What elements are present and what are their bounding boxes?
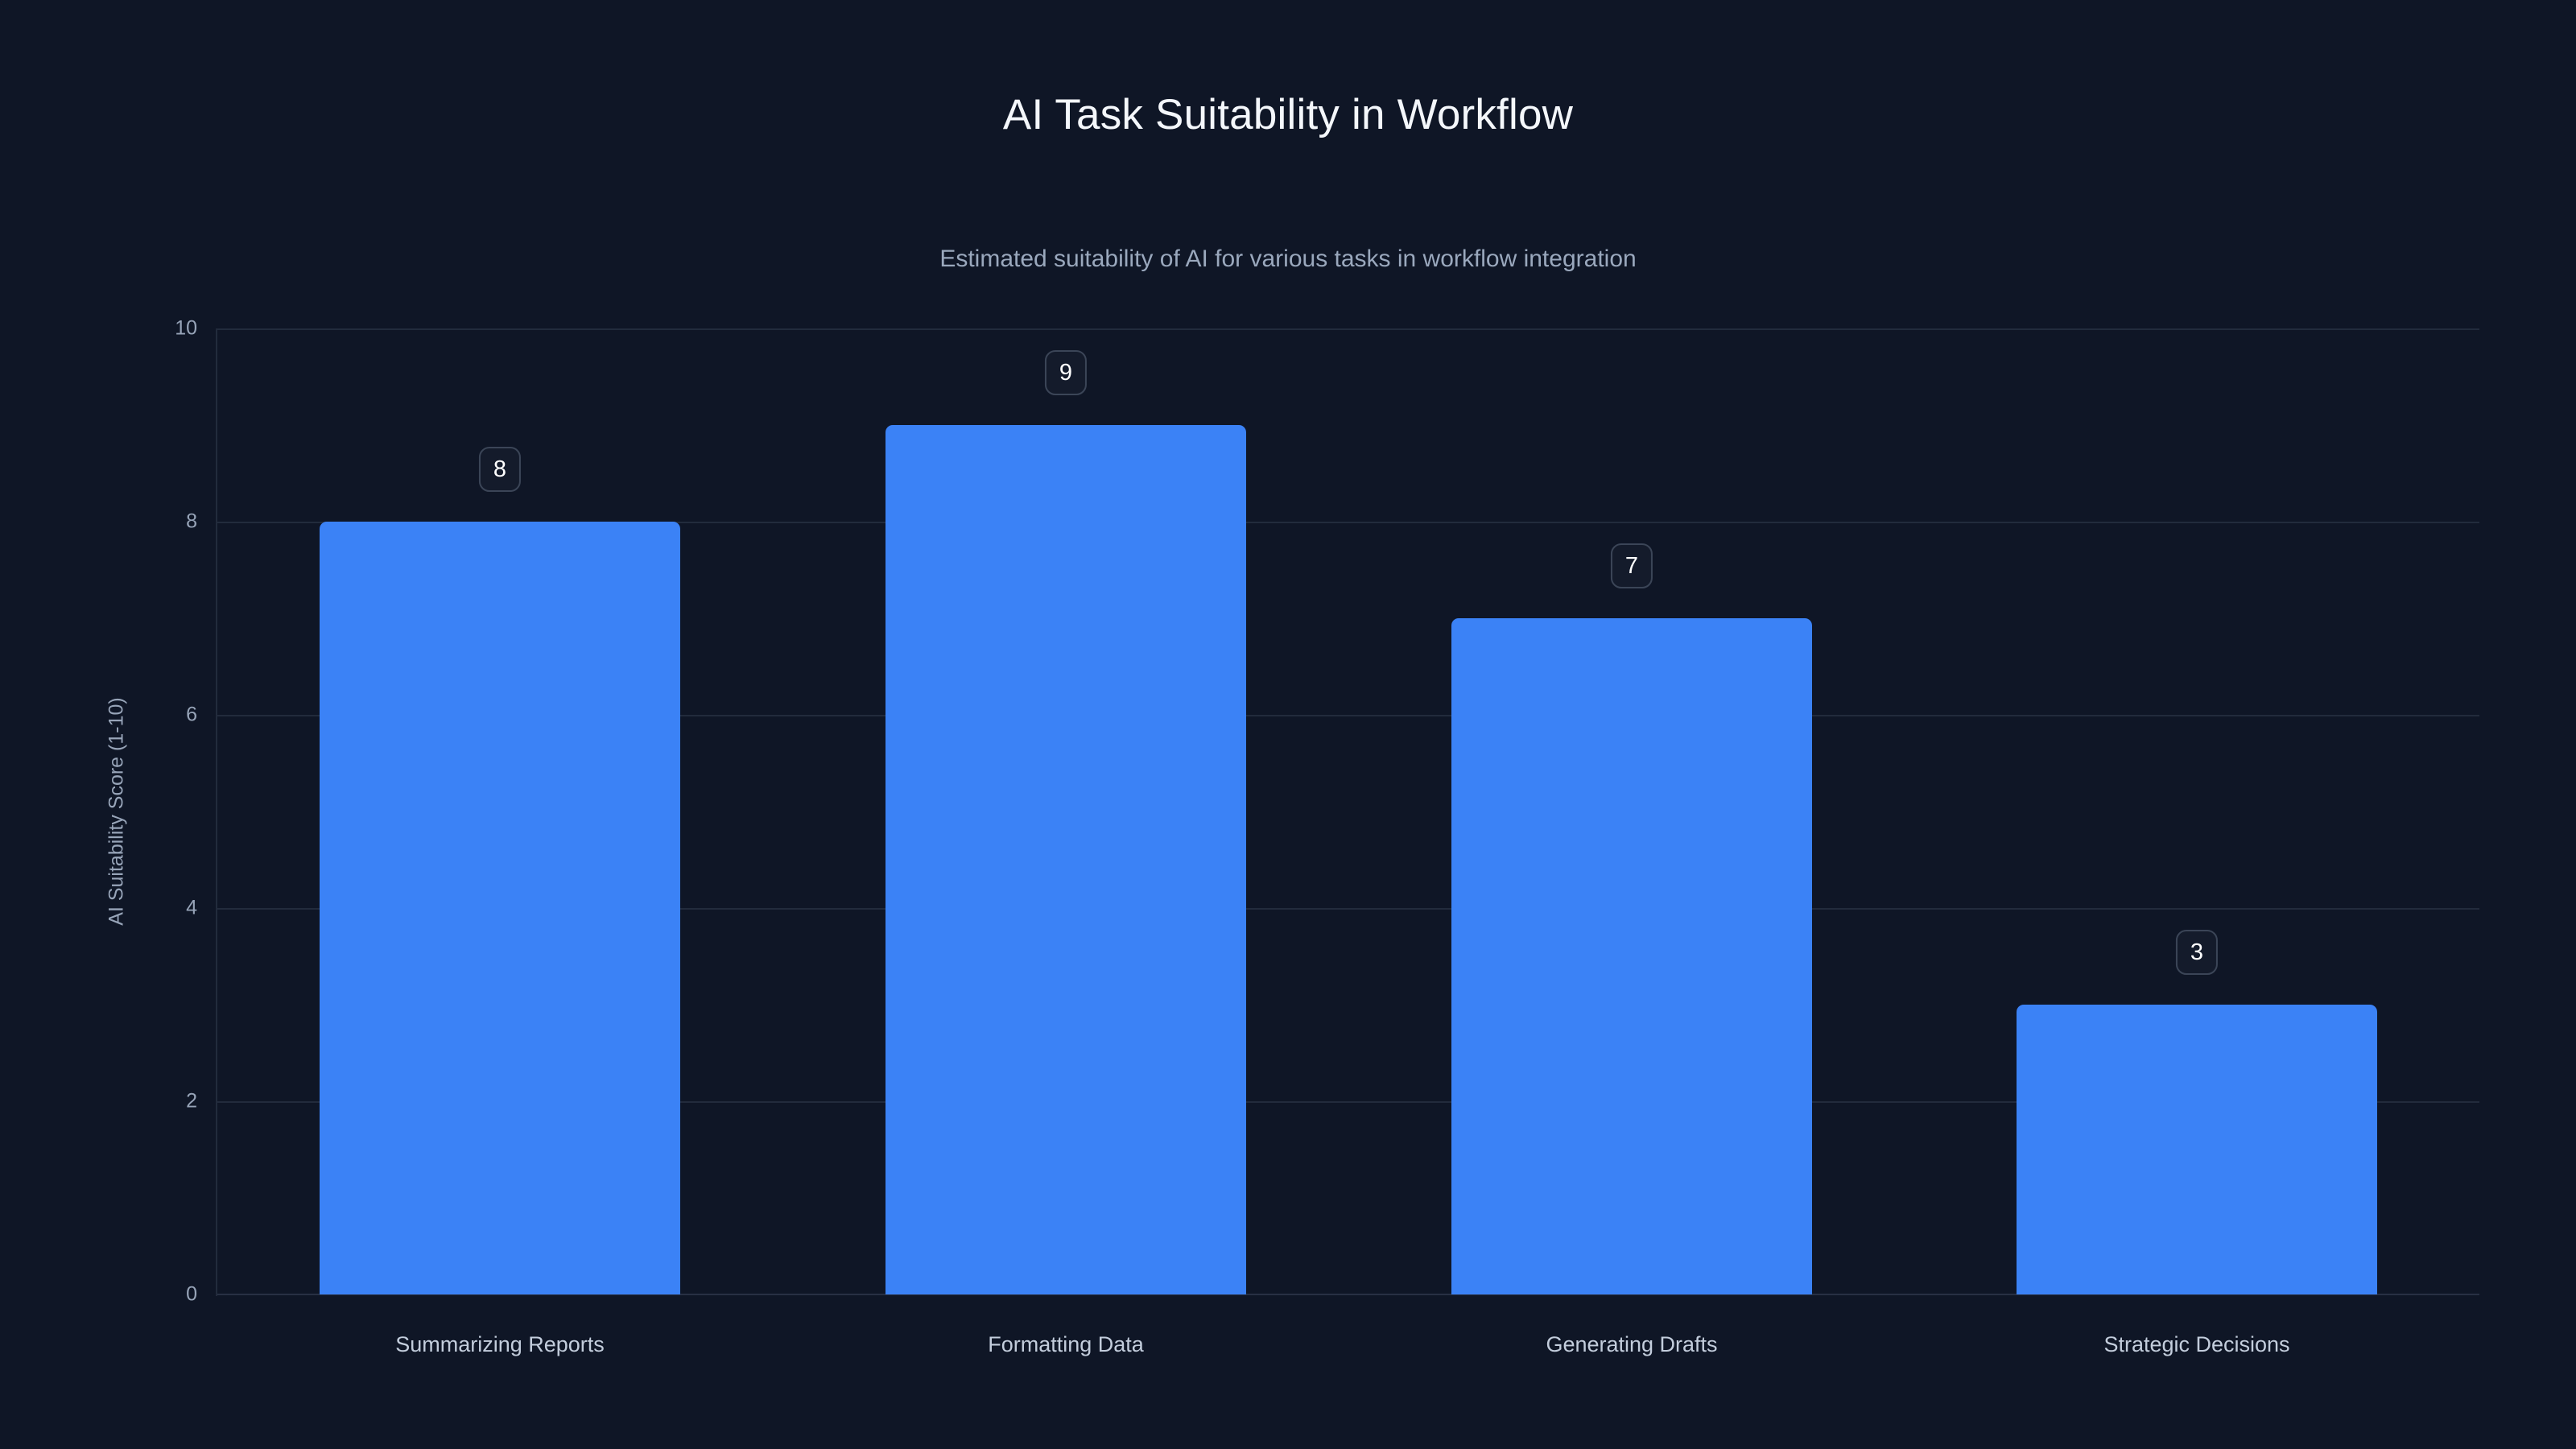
chart-canvas: AI Task Suitability in Workflow Estimate… — [0, 0, 2576, 1449]
gridline-10 — [217, 328, 2479, 330]
chart-subtitle: Estimated suitability of AI for various … — [0, 246, 2576, 273]
bar-summarizing-reports[interactable] — [320, 522, 680, 1294]
plot-area — [217, 328, 2479, 1294]
bar-value-badge-formatting-data: 9 — [1045, 350, 1087, 395]
bar-formatting-data[interactable] — [885, 425, 1246, 1294]
y-tick-label: 8 — [105, 510, 197, 534]
x-tick-label-generating-drafts: Generating Drafts — [1546, 1332, 1717, 1357]
y-tick-label: 10 — [105, 317, 197, 341]
bar-value-badge-summarizing-reports: 8 — [479, 447, 521, 492]
x-tick-label-strategic-decisions: Strategic Decisions — [2103, 1332, 2289, 1357]
bar-generating-drafts[interactable] — [1451, 618, 1812, 1294]
bar-value-badge-strategic-decisions: 3 — [2176, 930, 2218, 975]
y-tick-label: 2 — [105, 1090, 197, 1113]
x-tick-label-summarizing-reports: Summarizing Reports — [395, 1332, 605, 1357]
x-tick-label-formatting-data: Formatting Data — [988, 1332, 1144, 1357]
bar-strategic-decisions[interactable] — [2017, 1005, 2377, 1294]
y-tick-label: 0 — [105, 1283, 197, 1307]
bar-value-badge-generating-drafts: 7 — [1611, 543, 1653, 588]
y-axis-title: AI Suitability Score (1-10) — [105, 697, 129, 925]
chart-title: AI Task Suitability in Workflow — [0, 90, 2576, 139]
